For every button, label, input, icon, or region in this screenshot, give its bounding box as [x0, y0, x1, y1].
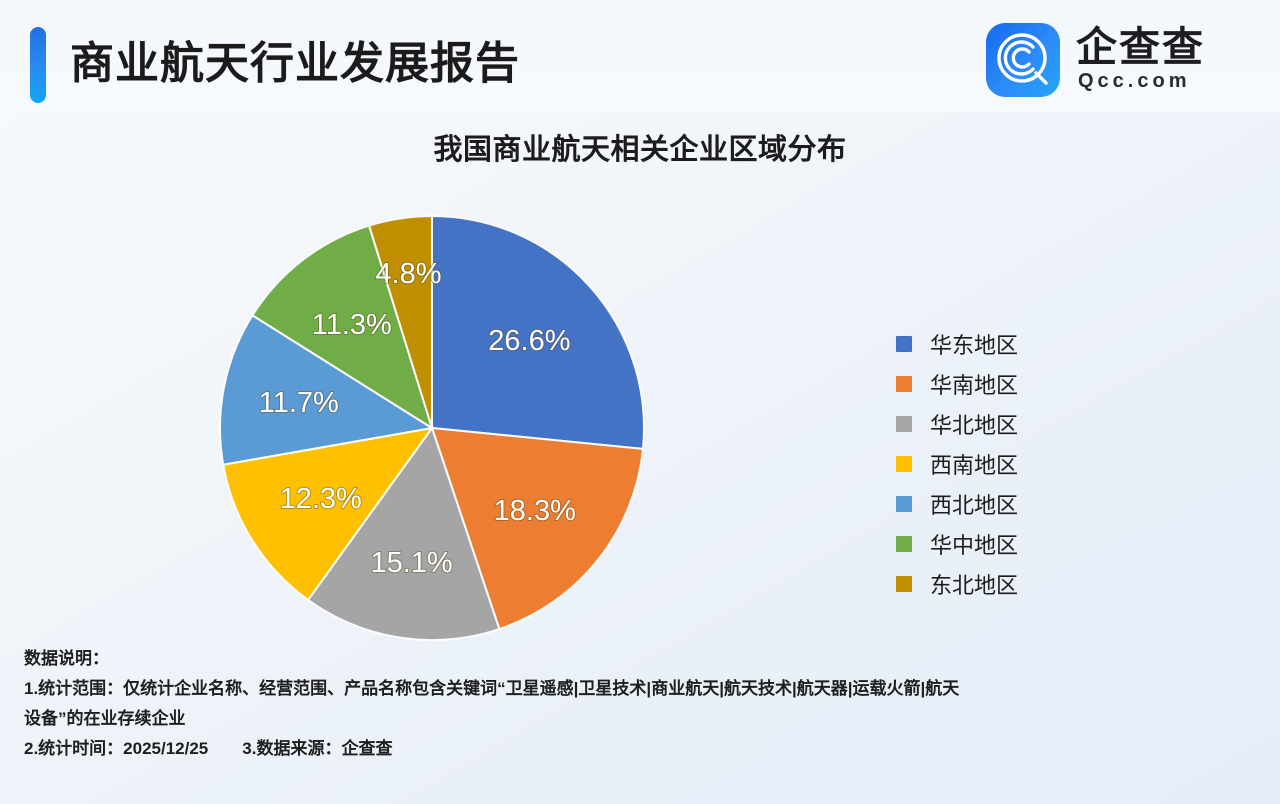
footnote-line-3: 2.统计时间：2025/12/25 3.数据来源：企查查 [24, 734, 1260, 764]
footnote-data-source: 3.数据来源：企查查 [242, 734, 392, 764]
pie-slice-label: 11.7% [259, 387, 339, 419]
legend-color-swatch [896, 376, 912, 392]
legend-item-label: 华北地区 [930, 408, 1018, 440]
footnote-heading: 数据说明： [24, 644, 1260, 674]
legend-item-label: 华东地区 [930, 328, 1018, 360]
pie-slice-label: 4.8% [375, 258, 441, 290]
legend-item[interactable]: 华东地区 [896, 324, 1146, 364]
qcc-q-logo-icon [986, 23, 1060, 97]
page-title: 商业航天行业发展报告 [70, 27, 520, 101]
logo-wordmark: 企查查 [1076, 25, 1205, 69]
legend-item[interactable]: 华南地区 [896, 364, 1146, 404]
footnote-line-1: 1.统计范围：仅统计企业名称、经营范围、产品名称包含关键词“卫星遥感|卫星技术|… [24, 674, 1260, 704]
chart-legend: 华东地区华南地区华北地区西南地区西北地区华中地区东北地区 [896, 324, 1146, 604]
qcc-logo: 企查查 Qcc.com [986, 19, 1246, 99]
legend-item[interactable]: 东北地区 [896, 564, 1146, 604]
legend-color-swatch [896, 496, 912, 512]
pie-slice-label: 26.6% [488, 325, 570, 357]
pie-slice-label: 12.3% [280, 483, 362, 515]
legend-item-label: 华中地区 [930, 528, 1018, 560]
legend-item-label: 东北地区 [930, 568, 1018, 600]
legend-item[interactable]: 华北地区 [896, 404, 1146, 444]
chart-title: 我国商业航天相关企业区域分布 [0, 126, 1280, 168]
pie-slice-label: 15.1% [370, 547, 452, 579]
pie-slice-label: 18.3% [494, 495, 576, 527]
legend-item[interactable]: 华中地区 [896, 524, 1146, 564]
footnote-stat-time: 2.统计时间：2025/12/25 [24, 734, 208, 764]
footnote-line-2: 设备”的在业存续企业 [24, 704, 1260, 734]
legend-item-label: 华南地区 [930, 368, 1018, 400]
legend-item[interactable]: 西南地区 [896, 444, 1146, 484]
pie-chart-svg: 26.6%18.3%15.1%12.3%11.7%11.3%4.8% [196, 192, 668, 664]
pie-slice-label: 11.3% [312, 309, 392, 341]
title-accent-bar [30, 27, 46, 103]
legend-color-swatch [896, 456, 912, 472]
legend-color-swatch [896, 416, 912, 432]
footnote-spacer [208, 734, 242, 764]
pie-chart: 26.6%18.3%15.1%12.3%11.7%11.3%4.8% [196, 192, 668, 664]
footnotes: 数据说明： 1.统计范围：仅统计企业名称、经营范围、产品名称包含关键词“卫星遥感… [24, 644, 1260, 764]
page-header: 商业航天行业发展报告 企查查 Qcc.com [0, 0, 1280, 112]
legend-item-label: 西北地区 [930, 488, 1018, 520]
legend-item[interactable]: 西北地区 [896, 484, 1146, 524]
legend-color-swatch [896, 336, 912, 352]
legend-color-swatch [896, 536, 912, 552]
legend-item-label: 西南地区 [930, 448, 1018, 480]
logo-domain: Qcc.com [1078, 69, 1190, 93]
legend-color-swatch [896, 576, 912, 592]
